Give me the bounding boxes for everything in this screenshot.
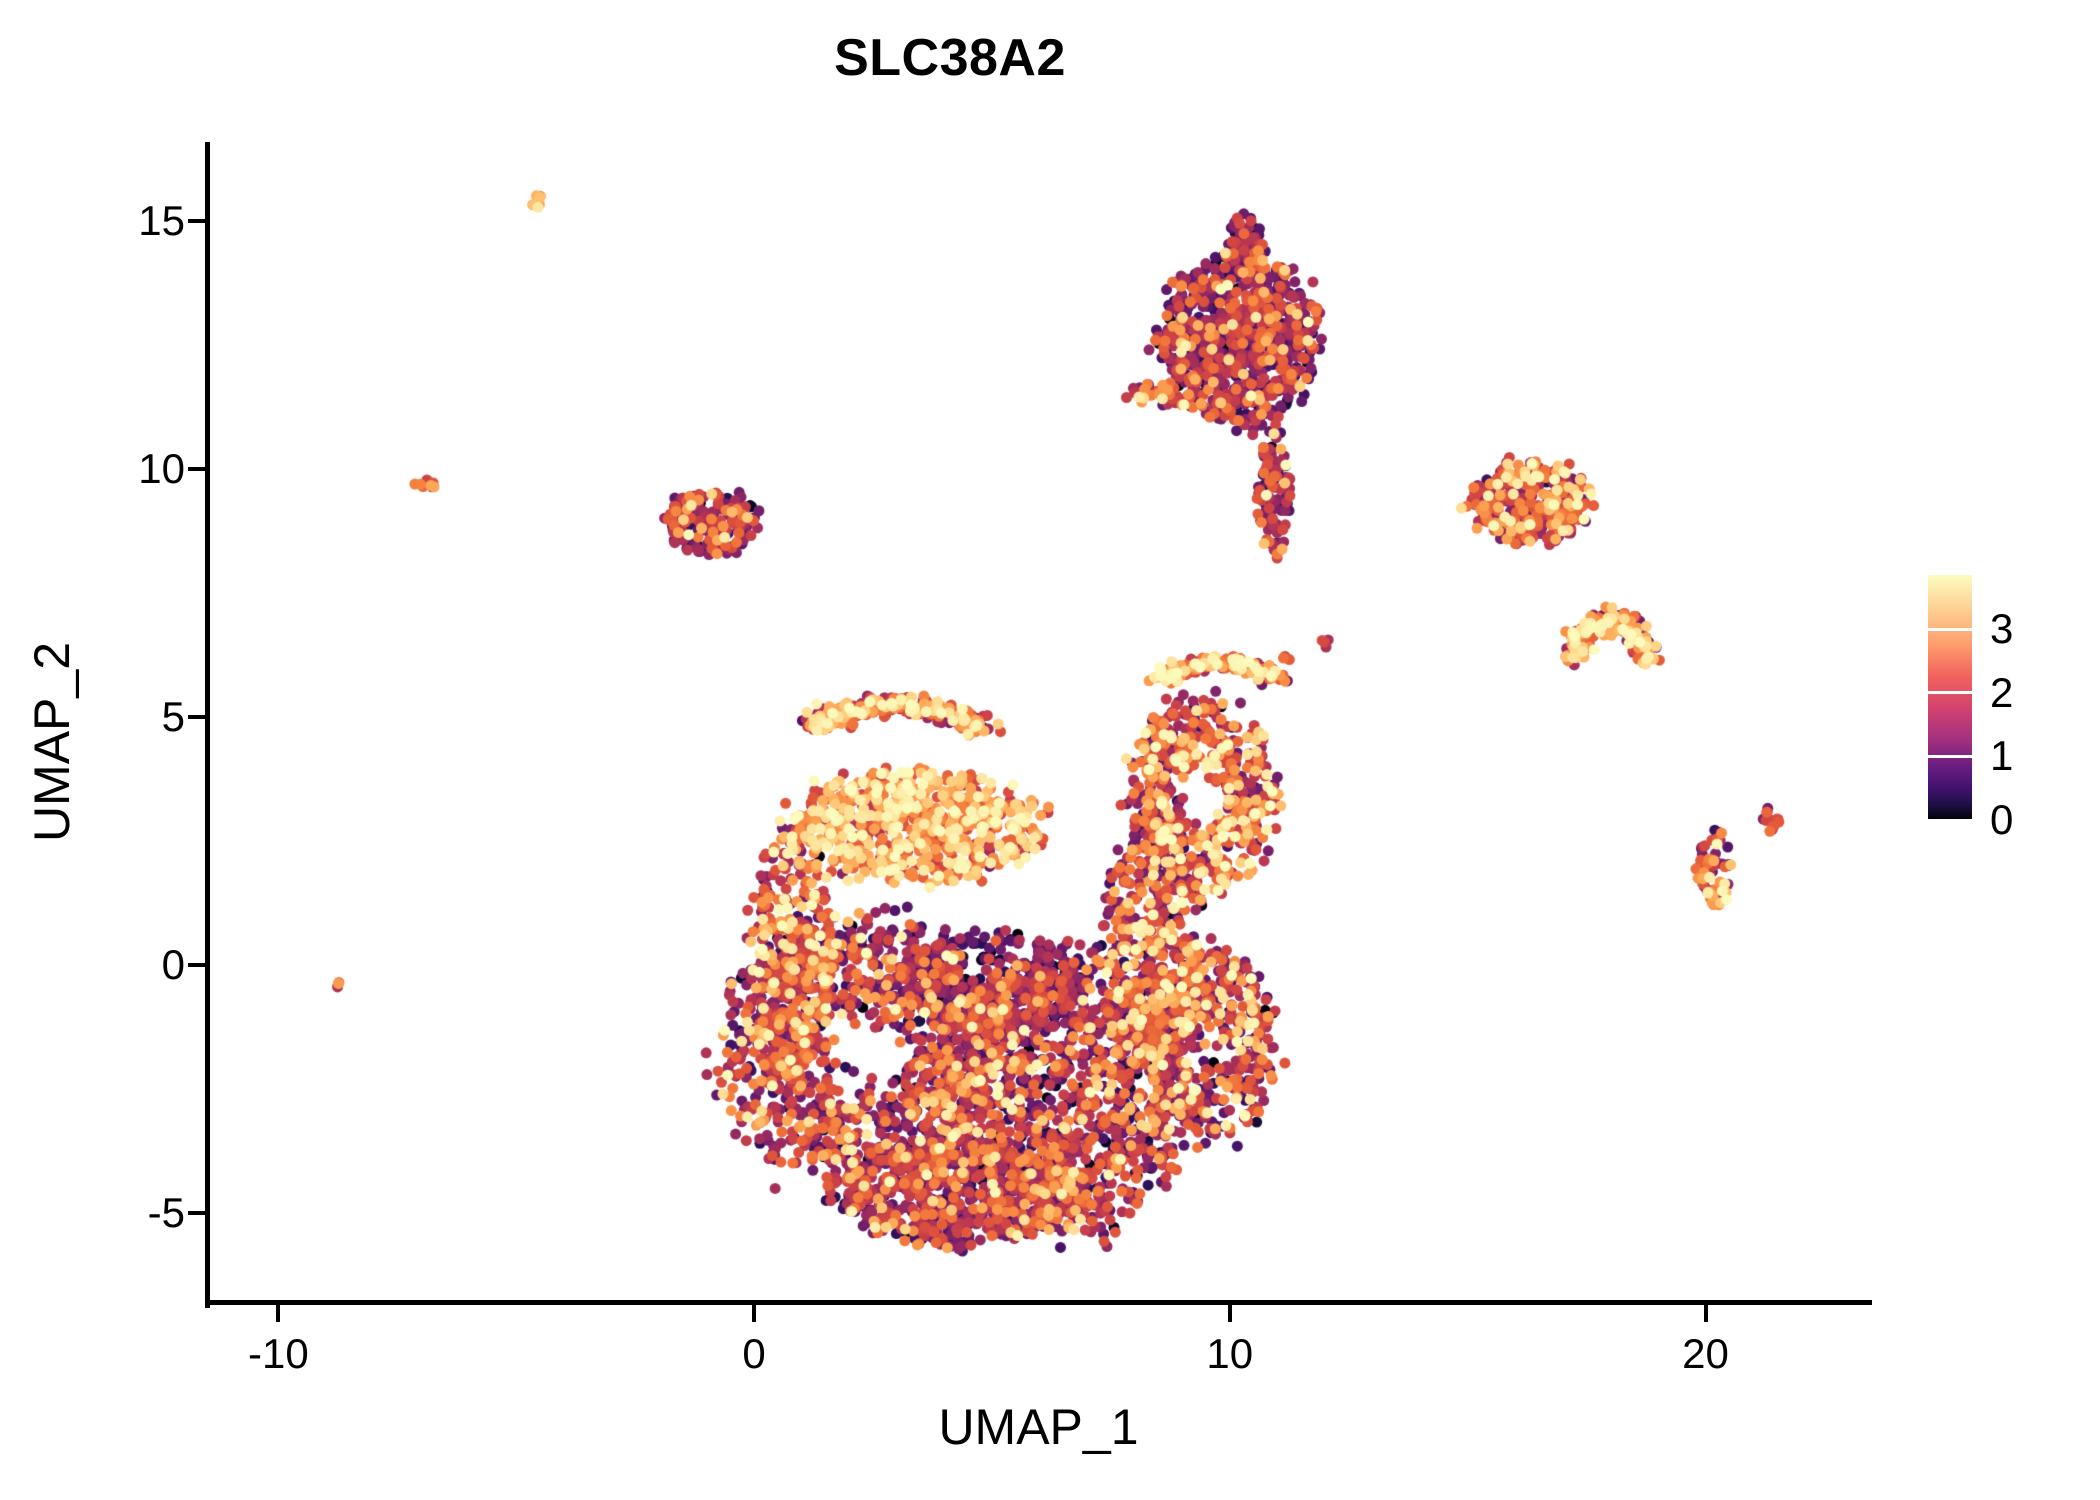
x-tick-mark: [276, 1305, 280, 1322]
color-legend: 0123: [1928, 575, 2078, 905]
y-tick-mark: [188, 715, 205, 719]
legend-colorbar: [1928, 575, 1972, 820]
legend-tick-mark: [1928, 691, 1972, 694]
y-axis-title: UMAP_2: [23, 159, 81, 1325]
legend-tick-mark: [1928, 755, 1972, 758]
legend-tick-label: 1: [1990, 732, 2013, 780]
y-tick-label: -5: [148, 1189, 185, 1237]
scatter-plot-area: [0, 0, 2100, 1500]
x-tick-label: 0: [742, 1330, 765, 1378]
legend-tick-label: 2: [1990, 669, 2013, 717]
y-tick-label: 5: [162, 693, 185, 741]
x-axis-title: UMAP_1: [205, 1398, 1872, 1456]
umap-feature-plot: SLC38A2 -5051015 -1001020 UMAP_1 UMAP_2 …: [0, 0, 2100, 1500]
y-tick-label: 0: [162, 941, 185, 989]
x-tick-label: -10: [248, 1330, 309, 1378]
y-tick-mark: [188, 219, 205, 223]
y-tick-mark: [188, 1211, 205, 1215]
legend-tick-mark: [1928, 819, 1972, 822]
x-axis-line: [205, 1300, 1872, 1305]
x-tick-mark: [1228, 1305, 1232, 1322]
legend-tick-label: 0: [1990, 796, 2013, 844]
x-tick-mark: [1704, 1305, 1708, 1322]
legend-tick-mark: [1928, 628, 1972, 631]
x-tick-mark: [752, 1305, 756, 1322]
y-tick-mark: [188, 963, 205, 967]
y-tick-label: 10: [138, 445, 185, 493]
y-tick-label: 15: [138, 197, 185, 245]
scatter-points-canvas: [0, 0, 2100, 1500]
x-tick-label: 10: [1206, 1330, 1253, 1378]
legend-tick-label: 3: [1990, 605, 2013, 653]
y-axis-line: [205, 142, 210, 1308]
x-tick-label: 20: [1682, 1330, 1729, 1378]
y-tick-mark: [188, 467, 205, 471]
